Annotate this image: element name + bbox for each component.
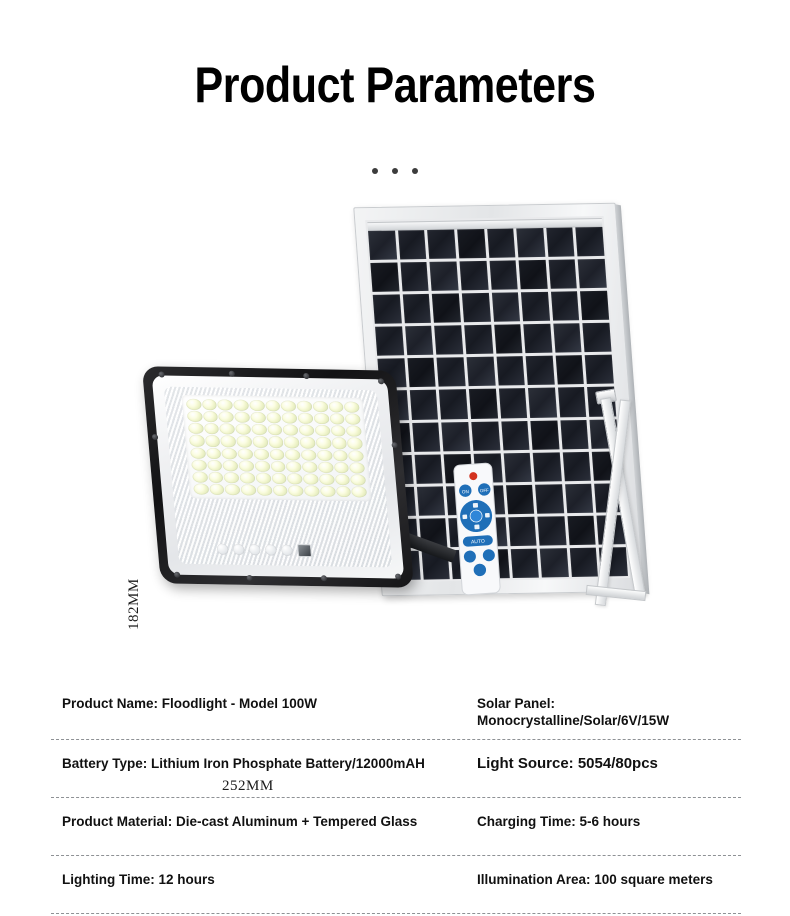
spec-illumination-area: Illumination Area: 100 square meters (467, 856, 741, 898)
led-lens-icon (265, 400, 281, 411)
solar-cell (521, 292, 550, 321)
led-lens-icon (250, 412, 266, 423)
ellipsis-indicator (0, 162, 790, 180)
solar-cell (457, 229, 486, 258)
page-title: Product Parameters (55, 56, 734, 114)
solar-cell (375, 327, 404, 356)
led-lens-icon (270, 461, 286, 472)
led-lens-icon (271, 473, 287, 484)
solar-cell (434, 326, 463, 355)
solar-cell (439, 390, 468, 419)
led-lens-icon (313, 413, 329, 424)
sensor-lens-icon (233, 544, 245, 555)
led-lens-icon (345, 414, 361, 425)
solar-cell (491, 293, 520, 322)
solar-cell (580, 291, 609, 320)
led-lens-icon (224, 472, 240, 483)
led-lens-icon (188, 423, 204, 434)
led-lens-icon (256, 484, 272, 495)
led-lens-icon (288, 485, 304, 496)
led-lens-icon (350, 474, 366, 485)
led-lens-icon (301, 449, 317, 460)
solar-cell (405, 326, 434, 355)
led-lens-icon (320, 486, 336, 497)
solar-cell (576, 227, 605, 256)
led-lens-icon (255, 472, 271, 483)
led-lens-icon (312, 401, 328, 412)
led-lens-icon (202, 399, 218, 410)
dot-icon (412, 168, 418, 174)
led-lens-icon (223, 460, 239, 471)
led-lens-icon (191, 459, 207, 470)
solar-cell (530, 420, 559, 449)
led-lens-icon (334, 474, 350, 485)
led-lens-icon (328, 401, 344, 412)
svg-text:ON: ON (462, 489, 469, 494)
led-lens-icon (331, 438, 347, 449)
led-lens-icon (203, 411, 219, 422)
led-lens-icon (304, 485, 320, 496)
led-lens-icon (240, 472, 256, 483)
led-lens-icon (272, 485, 288, 496)
solar-cell (565, 484, 594, 513)
led-lens-icon (239, 460, 255, 471)
led-lens-icon (348, 450, 364, 461)
screw-icon (229, 371, 236, 377)
spec-charging-time: Charging Time: 5-6 hours (467, 798, 741, 840)
screw-icon (391, 442, 398, 448)
solar-cell (432, 294, 461, 323)
led-lens-icon (286, 461, 302, 472)
solar-cell (585, 355, 614, 384)
sensor-lens-icon (249, 544, 261, 555)
solar-cell (535, 484, 564, 513)
solar-cell (489, 261, 518, 290)
led-lens-icon (254, 460, 270, 471)
solar-cell (487, 229, 516, 258)
led-lens-icon (302, 461, 318, 472)
product-photo: ON OFF AUTO (0, 190, 790, 640)
dimension-height-label: 182MM (126, 578, 143, 630)
led-lens-icon (267, 424, 283, 435)
solar-cell (407, 358, 436, 387)
spec-solar-panel: Solar Panel: Monocrystalline/Solar/6V/15… (467, 680, 741, 739)
led-lens-icon (349, 462, 365, 473)
led-lens-icon (186, 399, 202, 410)
solar-cell (553, 323, 582, 352)
table-row: Product Material: Die-cast Aluminum + Te… (51, 798, 741, 856)
led-lens-icon (189, 435, 205, 446)
solar-cell (430, 262, 459, 291)
led-lens-icon (319, 473, 335, 484)
led-lens-icon (300, 437, 316, 448)
led-lens-icon (233, 400, 249, 411)
led-lens-icon (208, 472, 224, 483)
led-lens-icon (237, 448, 253, 459)
floodlight-face (152, 375, 405, 578)
solar-cell (402, 294, 431, 323)
led-lens-icon (298, 413, 314, 424)
sensor-row (216, 543, 312, 558)
led-lens-icon (249, 400, 265, 411)
solar-cell (373, 295, 402, 324)
solar-cell (523, 324, 552, 353)
led-lens-icon (241, 484, 257, 495)
screw-icon (246, 575, 253, 581)
solar-cell (414, 454, 443, 483)
solar-cell (578, 259, 607, 288)
led-lens-icon (314, 425, 330, 436)
solar-cell (464, 325, 493, 354)
spec-table: Product Name: Floodlight - Model 100W So… (51, 680, 741, 914)
solar-cell (437, 358, 466, 387)
led-lens-icon (217, 399, 233, 410)
led-lens-icon (344, 402, 360, 413)
solar-cell (368, 231, 397, 260)
led-lens-icon (252, 436, 268, 447)
table-row: Lighting Time: 12 hours Illumination Are… (51, 856, 741, 914)
screw-icon (174, 572, 181, 578)
solar-cell (427, 230, 456, 259)
led-lens-icon (206, 447, 222, 458)
led-lens-icon (318, 461, 334, 472)
led-lens-icon (284, 437, 300, 448)
solar-cell (558, 387, 587, 416)
led-lens-icon (192, 471, 208, 482)
solar-cell (466, 357, 495, 386)
led-lens-icon (253, 448, 269, 459)
led-lens-icon (315, 437, 331, 448)
floodlight-image (142, 366, 414, 588)
led-lens-icon (193, 483, 209, 494)
solar-cell (462, 293, 491, 322)
led-lens-icon (220, 424, 236, 435)
led-lens-icon (225, 484, 241, 495)
led-lens-icon (221, 436, 237, 447)
solar-cell (526, 356, 555, 385)
solar-cell (562, 451, 591, 480)
solar-cell (496, 357, 525, 386)
screw-icon (321, 575, 328, 581)
screw-icon (378, 378, 385, 384)
spec-battery-type: Battery Type: Lithium Iron Phosphate Bat… (51, 740, 467, 782)
led-lens-icon (219, 411, 235, 422)
dot-icon (372, 168, 378, 174)
ir-receiver-icon (297, 544, 312, 557)
solar-cell (533, 452, 562, 481)
led-grid (186, 399, 367, 498)
led-lens-icon (205, 435, 221, 446)
led-lens-icon (347, 438, 363, 449)
solar-cell (519, 260, 548, 289)
svg-text:AUTO: AUTO (471, 538, 485, 545)
solar-cell (560, 419, 589, 448)
led-lens-icon (236, 436, 252, 447)
solar-cell (516, 228, 545, 257)
solar-cell (398, 230, 427, 259)
led-lens-icon (269, 448, 285, 459)
screw-icon (152, 434, 159, 440)
led-lens-icon (285, 449, 301, 460)
spec-product-material: Product Material: Die-cast Aluminum + Te… (51, 798, 467, 840)
led-lens-icon (204, 423, 220, 434)
screw-icon (303, 373, 310, 379)
led-lens-icon (266, 412, 282, 423)
led-lens-icon (297, 401, 313, 412)
solar-cell (409, 390, 438, 419)
led-lens-icon (329, 413, 345, 424)
led-lens-icon (317, 449, 333, 460)
solar-cell (441, 422, 470, 451)
solar-cell (469, 389, 498, 418)
solar-cell (508, 517, 537, 546)
solar-cell (528, 388, 557, 417)
led-lens-icon (351, 486, 367, 497)
solar-cell (471, 421, 500, 450)
solar-cell (548, 259, 577, 288)
solar-cell (551, 291, 580, 320)
solar-panel-kickstand (592, 398, 688, 616)
sensor-lens-icon (281, 545, 293, 556)
led-lens-icon (281, 400, 297, 411)
solar-cell (494, 325, 523, 354)
screw-icon (395, 574, 402, 580)
floodlight-housing (142, 366, 414, 588)
led-lens-icon (207, 459, 223, 470)
led-lens-icon (287, 473, 303, 484)
dot-icon (392, 168, 398, 174)
solar-cell (498, 389, 527, 418)
led-lens-icon (190, 447, 206, 458)
solar-cell (501, 421, 530, 450)
led-lens-icon (282, 413, 298, 424)
solar-cell (546, 227, 575, 256)
led-lens-icon (251, 424, 267, 435)
spec-lighting-time: Lighting Time: 12 hours (51, 856, 467, 898)
led-lens-icon (346, 426, 362, 437)
solar-cell (540, 548, 569, 577)
solar-cell (555, 355, 584, 384)
solar-cell (583, 323, 612, 352)
led-lens-icon (299, 425, 315, 436)
solar-cell (412, 422, 441, 451)
led-lens-icon (303, 473, 319, 484)
led-lens-icon (336, 486, 352, 497)
table-row: Battery Type: Lithium Iron Phosphate Bat… (51, 740, 741, 798)
table-row: Product Name: Floodlight - Model 100W So… (51, 680, 741, 740)
led-lens-icon (187, 411, 203, 422)
led-lens-icon (330, 425, 346, 436)
led-lens-icon (222, 448, 238, 459)
led-lens-icon (268, 436, 284, 447)
led-lens-icon (283, 425, 299, 436)
led-lens-icon (235, 424, 251, 435)
screw-icon (158, 371, 165, 377)
led-lens-icon (332, 450, 348, 461)
solar-cell (370, 263, 399, 292)
solar-cell (400, 262, 429, 291)
solar-cell (459, 261, 488, 290)
solar-cell (538, 516, 567, 545)
led-lens-icon (333, 462, 349, 473)
solar-cell (510, 549, 539, 578)
led-lens-icon (234, 412, 250, 423)
led-lens-icon (209, 484, 225, 495)
sensor-lens-icon (217, 544, 229, 555)
led-panel (181, 395, 371, 502)
sensor-lens-icon (265, 544, 277, 555)
spec-light-source: Light Source: 5054/80pcs (467, 740, 741, 782)
spec-product-name: Product Name: Floodlight - Model 100W (51, 680, 467, 722)
svg-text:OFF: OFF (480, 488, 489, 494)
